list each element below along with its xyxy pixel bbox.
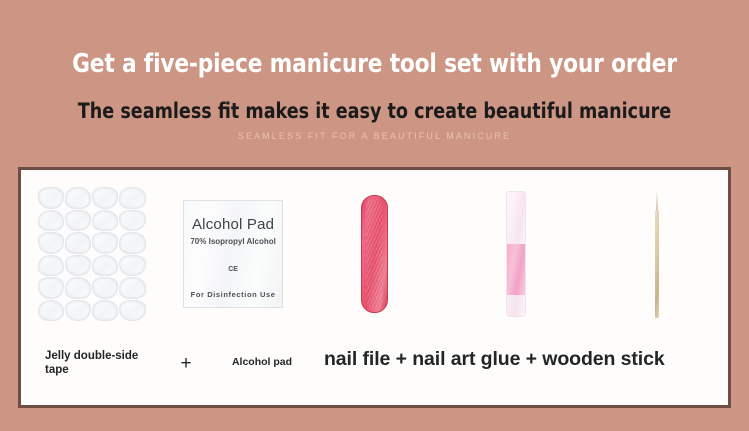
nail-file-icon <box>361 195 388 313</box>
packet-title: Alcohol Pad <box>192 216 274 233</box>
caption-jelly-tape: Jelly double-side tape <box>45 349 165 378</box>
product-cell-nail-art-glue <box>445 170 586 338</box>
product-panel: Alcohol Pad 70% Isopropyl Alcohol CE For… <box>18 167 731 408</box>
caption-remaining-tools: nail file + nail art glue + wooden stick <box>324 347 714 371</box>
product-image-row: Alcohol Pad 70% Isopropyl Alcohol CE For… <box>21 170 728 338</box>
plus-separator-icon: + <box>173 352 199 376</box>
product-caption-row: Jelly double-side tape + Alcohol pad nai… <box>21 338 728 405</box>
product-cell-wooden-stick <box>587 170 728 338</box>
ce-mark-icon: CE <box>228 266 238 273</box>
packet-subtitle: 70% Isopropyl Alcohol <box>190 237 276 246</box>
promo-banner: Get a five-piece manicure tool set with … <box>0 0 749 431</box>
alcohol-pad-packet: Alcohol Pad 70% Isopropyl Alcohol CE For… <box>183 200 283 308</box>
subheading: The seamless fit makes it easy to create… <box>26 100 723 123</box>
product-cell-jelly-tape <box>21 170 162 338</box>
jelly-double-side-tape-icon <box>38 187 146 321</box>
packet-usage: For Disinfection Use <box>191 290 276 299</box>
glue-cap <box>507 192 525 244</box>
wooden-stick-icon <box>654 190 660 318</box>
tagline: SEAMLESS FIT FOR A BEAUTIFUL MANICURE <box>0 131 749 141</box>
caption-alcohol-pad: Alcohol pad <box>207 356 317 369</box>
nail-art-glue-icon <box>506 191 526 317</box>
glue-base <box>507 295 525 316</box>
product-cell-alcohol-pad: Alcohol Pad 70% Isopropyl Alcohol CE For… <box>162 170 303 338</box>
page-title: Get a five-piece manicure tool set with … <box>26 50 723 79</box>
product-cell-nail-file <box>304 170 445 338</box>
glue-body <box>507 244 525 295</box>
